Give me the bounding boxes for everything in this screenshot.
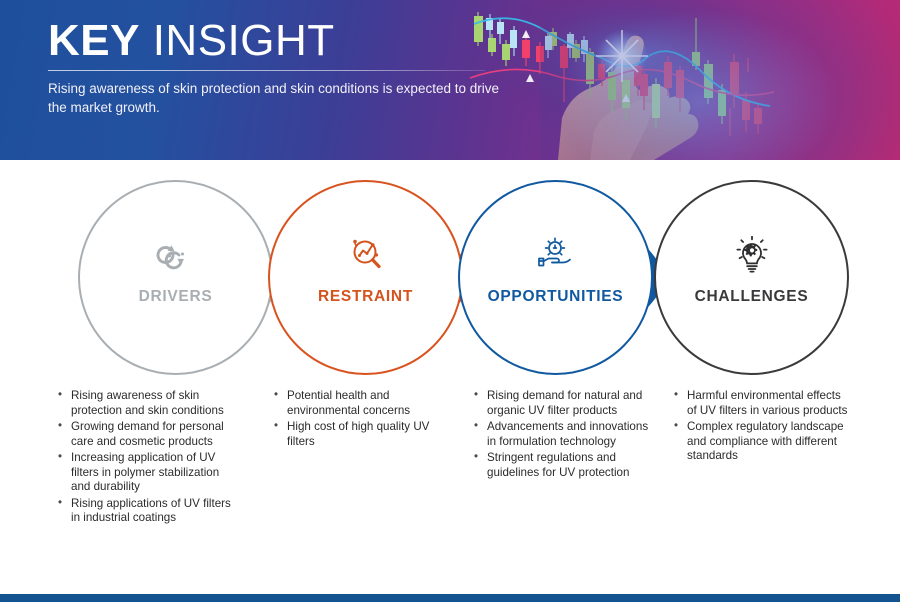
- list-item: Rising applications of UV filters in ind…: [56, 497, 232, 526]
- list-item: Stringent regulations and guidelines for…: [472, 451, 650, 480]
- list-item: High cost of high quality UV filters: [272, 420, 444, 449]
- infinity-arrows-icon: [80, 230, 271, 280]
- title-divider: [48, 70, 485, 71]
- page-title: KEY INSIGHT: [48, 18, 335, 64]
- lightbulb-gear-icon: [656, 230, 847, 280]
- stage-label-opportunities: OPPORTUNITIES: [460, 288, 651, 306]
- list-item: Harmful environmental effects of UV filt…: [672, 389, 852, 418]
- bullet-columns: Rising awareness of skin protection and …: [0, 389, 900, 574]
- stage-circle-opportunities[interactable]: OPPORTUNITIES: [458, 180, 653, 375]
- footer-bar: [0, 594, 900, 602]
- list-item: Growing demand for personal care and cos…: [56, 420, 232, 449]
- bullet-list-opportunities: Rising demand for natural and organic UV…: [472, 389, 650, 480]
- stage-circle-restraint[interactable]: RESTRAINT: [268, 180, 463, 375]
- list-item: Rising awareness of skin protection and …: [56, 389, 232, 418]
- page-title-light: INSIGHT: [140, 16, 335, 65]
- stage-circle-drivers[interactable]: DRIVERS: [78, 180, 273, 375]
- bullet-column-restraint: Potential health and environmental conce…: [272, 389, 444, 451]
- infographic-page: KEY INSIGHT Rising awareness of skin pro…: [0, 0, 900, 602]
- list-item: Complex regulatory landscape and complia…: [672, 420, 852, 464]
- list-item: Increasing application of UV filters in …: [56, 451, 232, 495]
- list-item: Rising demand for natural and organic UV…: [472, 389, 650, 418]
- magnifier-chart-icon: [270, 230, 461, 280]
- page-title-bold: KEY: [48, 16, 140, 65]
- bullet-list-challenges: Harmful environmental effects of UV filt…: [672, 389, 852, 464]
- bullet-column-challenges: Harmful environmental effects of UV filt…: [672, 389, 852, 466]
- header-banner: KEY INSIGHT Rising awareness of skin pro…: [0, 0, 900, 160]
- bullet-column-drivers: Rising awareness of skin protection and …: [56, 389, 232, 528]
- list-item: Potential health and environmental conce…: [272, 389, 444, 418]
- list-item: Advancements and innovations in formulat…: [472, 420, 650, 449]
- header-subtitle: Rising awareness of skin protection and …: [48, 79, 518, 117]
- stage-circle-challenges[interactable]: CHALLENGES: [654, 180, 849, 375]
- bullet-list-drivers: Rising awareness of skin protection and …: [56, 389, 232, 526]
- hand-holding-sun-icon: [460, 230, 651, 280]
- stage-label-challenges: CHALLENGES: [656, 288, 847, 306]
- bullet-column-opportunities: Rising demand for natural and organic UV…: [472, 389, 650, 482]
- stage-label-restraint: RESTRAINT: [270, 288, 461, 306]
- stage-label-drivers: DRIVERS: [80, 288, 271, 306]
- bullet-list-restraint: Potential health and environmental conce…: [272, 389, 444, 449]
